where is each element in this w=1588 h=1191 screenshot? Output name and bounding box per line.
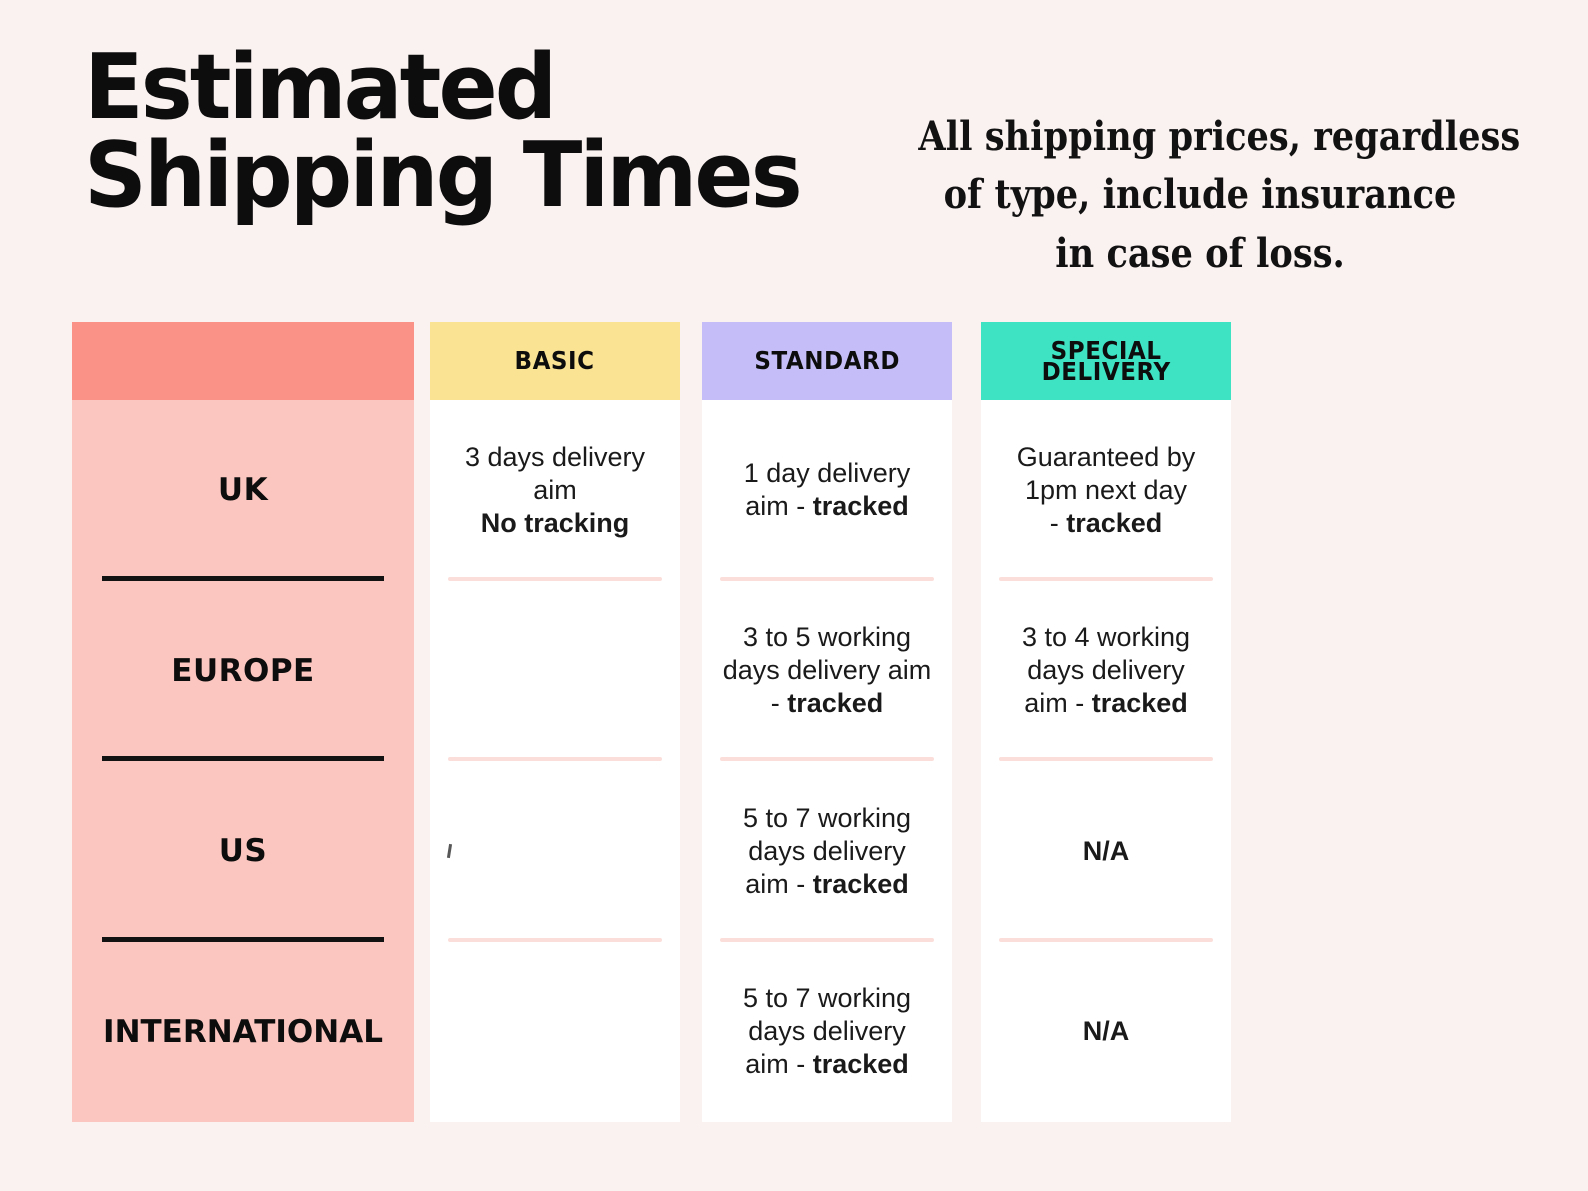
plain-text: days delivery xyxy=(748,1016,906,1046)
region-row-uk: UK xyxy=(72,400,414,581)
cell-value: 3 to 4 workingdays deliveryaim - tracked xyxy=(1022,621,1190,720)
cell-line-2: - tracked xyxy=(1017,507,1196,540)
cell-line-0: N/A xyxy=(1083,835,1130,868)
cell-line-1: aim - tracked xyxy=(744,490,911,523)
plain-text: days delivery xyxy=(748,836,906,866)
insurance-note-line-0: All shipping prices, regardless xyxy=(918,108,1481,166)
plain-text: 3 days delivery xyxy=(465,442,645,472)
service-column-standard: STANDARD 1 day deliveryaim - tracked3 to… xyxy=(702,322,952,1122)
cell-us-standard: 5 to 7 workingdays deliveryaim - tracked xyxy=(702,761,952,942)
service-column-basic: BASIC 3 days deliveryaimNo tracking xyxy=(430,322,680,1122)
cell-uk-basic: 3 days deliveryaimNo tracking xyxy=(430,400,680,581)
cell-line-2: aim - tracked xyxy=(1022,687,1190,720)
cell-line-2: aim - tracked xyxy=(743,1048,911,1081)
cell-line-0: Guaranteed by xyxy=(1017,441,1196,474)
cell-europe-standard: 3 to 5 workingdays delivery aim- tracked xyxy=(702,581,952,762)
emphasis-text: tracked xyxy=(1092,688,1188,718)
service-column-header-special-delivery: SPECIALDELIVERY xyxy=(981,322,1231,400)
service-cells-special-delivery: Guaranteed by1pm next day- tracked3 to 4… xyxy=(981,400,1231,1122)
region-column-header xyxy=(72,322,414,400)
plain-text: aim - xyxy=(745,869,813,899)
cell-uk-standard: 1 day deliveryaim - tracked xyxy=(702,400,952,581)
service-header-label: SPECIALDELIVERY xyxy=(1041,340,1170,383)
header-area: EstimatedShipping Times All shipping pri… xyxy=(0,0,1588,310)
shipping-times-table: UKEUROPEUSINTERNATIONAL BASIC 3 days del… xyxy=(72,322,1232,1122)
cell-value: Guaranteed by1pm next day- tracked xyxy=(1017,441,1196,540)
service-column-special-delivery: SPECIALDELIVERY Guaranteed by1pm next da… xyxy=(981,322,1231,1122)
cell-line-0: 5 to 7 working xyxy=(743,802,911,835)
region-list: UKEUROPEUSINTERNATIONAL xyxy=(72,400,414,1122)
insurance-note: All shipping prices, regardlessof type, … xyxy=(918,108,1481,283)
cell-international-special-delivery: N/A xyxy=(981,942,1231,1123)
cell-line-2: - tracked xyxy=(723,687,932,720)
cell-uk-special-delivery: Guaranteed by1pm next day- tracked xyxy=(981,400,1231,581)
service-header-line-0: BASIC xyxy=(515,350,595,372)
plain-text: 5 to 7 working xyxy=(743,803,911,833)
cell-line-0: 5 to 7 working xyxy=(743,982,911,1015)
plain-text: - xyxy=(771,688,788,718)
cell-value-na: N/A xyxy=(1083,1015,1130,1048)
plain-text: aim - xyxy=(1024,688,1092,718)
cell-line-2: No tracking xyxy=(465,507,645,540)
region-label: US xyxy=(219,833,268,869)
cell-value: 3 days deliveryaimNo tracking xyxy=(465,441,645,540)
service-cells-standard: 1 day deliveryaim - tracked3 to 5 workin… xyxy=(702,400,952,1122)
cell-us-special-delivery: N/A xyxy=(981,761,1231,942)
region-label: INTERNATIONAL xyxy=(103,1014,383,1050)
plain-text: 5 to 7 working xyxy=(743,983,911,1013)
plain-text: 1pm next day xyxy=(1025,475,1187,505)
plain-text: Guaranteed by xyxy=(1017,442,1196,472)
plain-text: aim xyxy=(533,475,577,505)
emphasis-text: tracked xyxy=(813,491,909,521)
cell-europe-basic xyxy=(430,581,680,762)
page-title-line-0: Estimated xyxy=(84,44,879,132)
cell-line-0: N/A xyxy=(1083,1015,1130,1048)
cell-line-1: days delivery aim xyxy=(723,654,932,687)
cell-line-1: days delivery xyxy=(743,1015,911,1048)
region-label: UK xyxy=(218,472,268,508)
plain-text: 1 day delivery xyxy=(744,458,911,488)
insurance-note-line-2: in case of loss. xyxy=(918,225,1481,283)
cell-line-0: 3 to 5 working xyxy=(723,621,932,654)
cell-line-1: 1pm next day xyxy=(1017,474,1196,507)
emphasis-text: N/A xyxy=(1083,1016,1130,1046)
emphasis-text: tracked xyxy=(787,688,883,718)
page-title: EstimatedShipping Times xyxy=(84,44,879,220)
cell-line-0: 1 day delivery xyxy=(744,457,911,490)
emphasis-text: tracked xyxy=(813,1049,909,1079)
cell-value: 1 day deliveryaim - tracked xyxy=(744,457,911,523)
cell-value: 3 to 5 workingdays delivery aim- tracked xyxy=(723,621,932,720)
region-label: EUROPE xyxy=(171,653,314,689)
emphasis-text: tracked xyxy=(1066,508,1162,538)
cell-value: 5 to 7 workingdays deliveryaim - tracked xyxy=(743,802,911,901)
service-header-line-0: STANDARD xyxy=(754,350,900,372)
service-header-line-1: DELIVERY xyxy=(1041,361,1170,383)
cell-line-1: days delivery xyxy=(1022,654,1190,687)
cell-international-standard: 5 to 7 workingdays deliveryaim - tracked xyxy=(702,942,952,1123)
plain-text: aim - xyxy=(745,491,813,521)
plain-text: days delivery xyxy=(1027,655,1185,685)
region-column: UKEUROPEUSINTERNATIONAL xyxy=(72,322,414,1122)
plain-text: - xyxy=(1050,508,1067,538)
cell-value: 5 to 7 workingdays deliveryaim - tracked xyxy=(743,982,911,1081)
cell-value-na: N/A xyxy=(1083,835,1130,868)
cell-line-2: aim - tracked xyxy=(743,868,911,901)
plain-text: days delivery aim xyxy=(723,655,932,685)
cell-line-1: days delivery xyxy=(743,835,911,868)
cell-line-1: aim xyxy=(465,474,645,507)
cell-us-basic xyxy=(430,761,680,942)
emphasis-text: tracked xyxy=(813,869,909,899)
plain-text: 3 to 4 working xyxy=(1022,622,1190,652)
emphasis-text: No tracking xyxy=(481,508,630,538)
plain-text: 3 to 5 working xyxy=(743,622,911,652)
cell-line-0: 3 days delivery xyxy=(465,441,645,474)
service-header-label: STANDARD xyxy=(754,350,900,372)
region-row-europe: EUROPE xyxy=(72,581,414,762)
cell-line-0: 3 to 4 working xyxy=(1022,621,1190,654)
region-row-us: US xyxy=(72,761,414,942)
emphasis-text: N/A xyxy=(1083,836,1130,866)
page-title-line-1: Shipping Times xyxy=(84,132,879,220)
service-cells-basic: 3 days deliveryaimNo tracking xyxy=(430,400,680,1122)
plain-text: aim - xyxy=(745,1049,813,1079)
cell-europe-special-delivery: 3 to 4 workingdays deliveryaim - tracked xyxy=(981,581,1231,762)
insurance-note-line-1: of type, include insurance xyxy=(918,166,1481,224)
stray-mark xyxy=(447,844,452,858)
service-column-header-basic: BASIC xyxy=(430,322,680,400)
service-header-label: BASIC xyxy=(515,350,595,372)
region-row-international: INTERNATIONAL xyxy=(72,942,414,1123)
service-column-header-standard: STANDARD xyxy=(702,322,952,400)
cell-international-basic xyxy=(430,942,680,1123)
